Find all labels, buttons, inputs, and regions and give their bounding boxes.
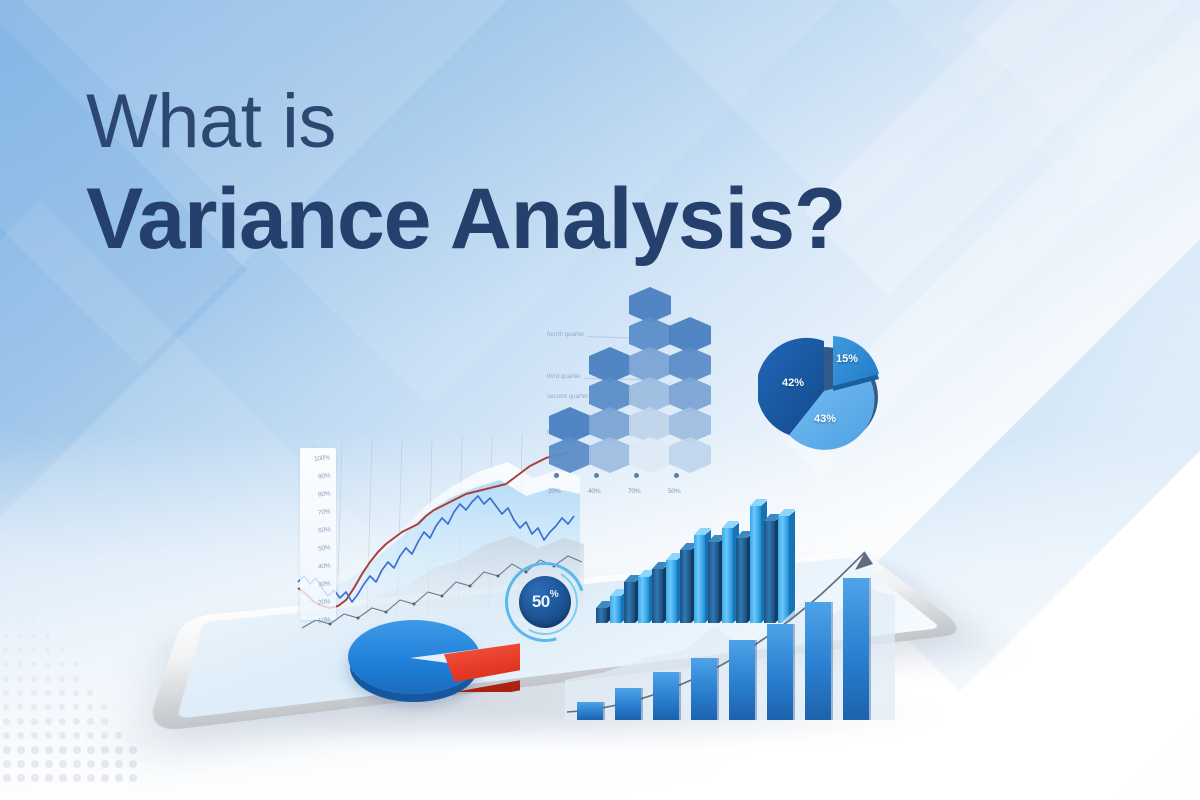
hexagon-cell — [629, 437, 671, 473]
y-tick-100: 100% — [314, 454, 330, 463]
growth-bar — [653, 672, 679, 720]
hex-column — [589, 353, 631, 473]
growth-bar — [691, 658, 717, 720]
hexagon-cell — [669, 437, 711, 473]
growth-arrow-head — [855, 552, 873, 570]
hex-value-dot — [553, 472, 560, 479]
hex-column — [549, 413, 591, 473]
hex-row-label-second: second quarter — [547, 394, 588, 400]
pie-3d-svg — [758, 325, 893, 455]
poster-canvas: What is Variance Analysis? — [0, 0, 1200, 800]
pie-label-15: 15% — [836, 353, 858, 365]
y-tick-70: 70% — [317, 508, 330, 516]
hex-value-20: 20% — [548, 488, 560, 495]
gauge-value: 50 — [532, 592, 550, 611]
growth-bar — [767, 624, 793, 720]
growth-bar — [843, 578, 869, 720]
hex-row-label-fourth: fourth quarter — [547, 332, 584, 338]
title-line-two: Variance Analysis? — [86, 174, 845, 264]
hexagon-column-chart: fourth quarter third quarter second quar… — [545, 330, 720, 495]
growth-bar-chart — [565, 530, 895, 720]
hexagon-cell — [589, 437, 631, 473]
pie-slice-red-top — [444, 640, 520, 682]
y-tick-60: 60% — [317, 526, 330, 534]
hex-column — [629, 293, 671, 473]
page-title: What is Variance Analysis? — [86, 84, 845, 264]
pie-label-43: 43% — [814, 413, 836, 425]
hexagon-cell — [549, 437, 591, 473]
title-line-one: What is — [86, 84, 845, 160]
y-axis-labels: 100% 90% 80% 70% 60% 50% 40% 30% 20% 10% — [298, 455, 332, 620]
y-tick-40: 40% — [317, 562, 330, 570]
pie-label-42: 42% — [782, 377, 804, 389]
y-tick-50: 50% — [317, 544, 330, 552]
growth-bar — [805, 602, 831, 720]
pie-slice-red — [444, 640, 520, 682]
flat-3d-pie — [348, 620, 548, 715]
y-tick-30: 30% — [317, 580, 330, 588]
y-tick-10: 10% — [317, 616, 330, 624]
y-tick-80: 80% — [317, 490, 330, 498]
growth-bar — [577, 702, 603, 720]
y-tick-20: 20% — [317, 598, 330, 606]
hex-row-label-third: third quarter — [547, 374, 581, 380]
growth-bar — [729, 640, 755, 720]
y-tick-90: 90% — [317, 472, 330, 480]
pie-3d-chart: 42% 43% 15% — [758, 325, 893, 455]
growth-bar — [615, 688, 641, 720]
gauge-unit: % — [550, 589, 558, 600]
decorative-dot-matrix — [0, 570, 150, 800]
hex-column — [669, 323, 711, 473]
